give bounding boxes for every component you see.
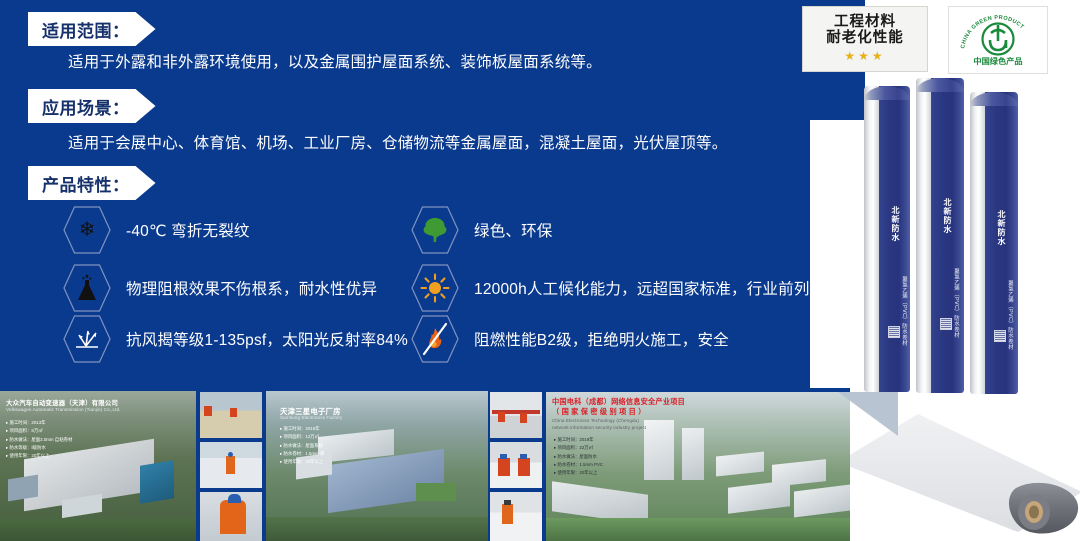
- project-thumb: [200, 492, 262, 541]
- project-title-cn: 大众汽车自动变速器（天津）有限公司: [6, 398, 118, 407]
- reflect-arrows-glyph: [72, 324, 102, 354]
- bullet-item: 使用年限：20年以上: [554, 469, 603, 477]
- project-thumb: [490, 442, 542, 488]
- text-application-scenarios: 适用于会展中心、体育馆、机场、工业厂房、仓储物流等金属屋面，混凝土屋面，光伏屋顶…: [68, 131, 727, 153]
- badge-bottom-text: 中国绿色产品: [973, 56, 1022, 66]
- wind-reflect-icon: [62, 314, 112, 364]
- bullet-item: 施工时间：2016年: [280, 425, 324, 433]
- tag-applicable-scope: 适用范围：: [28, 12, 156, 46]
- feature-label: 绿色、环保: [474, 219, 553, 241]
- roll-brand-label-1: 北新防水: [890, 206, 901, 242]
- bullet-item: 防水卷材：1.5mm 厚: [280, 450, 324, 458]
- tag-application-scenarios: 应用场景：: [28, 89, 156, 123]
- feature-label: 抗风揭等级1-135psf，太阳光反射率84%: [126, 328, 408, 350]
- badge-line-2: 耐老化性能: [826, 31, 904, 46]
- text-applicable-scope: 适用于外露和非外露环境使用，以及金属围护屋面系统、装饰板屋面系统等。: [68, 50, 602, 72]
- snowflake-glyph: ❄: [79, 220, 96, 240]
- roll-qr-icon-3: [994, 330, 1006, 342]
- tag-product-features: 产品特性：: [28, 166, 156, 200]
- snowflake-icon: ❄: [62, 205, 112, 255]
- bullet-item: 防水做法：屋面防水: [554, 453, 603, 461]
- bullet-item: 防水做法：屋面系统: [280, 442, 324, 450]
- project-panel-volkswagen[interactable]: 大众汽车自动变速器（天津）有限公司 Volkswagen Automatic T…: [0, 391, 262, 541]
- bullet-item: 项目面积：8万㎡: [6, 427, 72, 435]
- feature-row-weathering: 12000h人工候化能力，远超国家标准，行业前列: [410, 263, 810, 313]
- project-photo-cetc: 中国电科（成都）网络信息安全产业项目 （ 国 家 保 密 级 别 项 目 ） C…: [546, 392, 850, 541]
- china-green-product-badge: CHINA GREEN PRODUCT 中国绿色产品: [948, 6, 1048, 74]
- engineering-material-aging-badge: 工程材料 耐老化性能 ★★★: [802, 6, 928, 72]
- bullet-item: 施工时间：2013年: [6, 419, 72, 427]
- product-roll-2: 北新防水 聚氯乙烯（PVC）防水卷材: [916, 78, 964, 393]
- roll-spec-label-1: 聚氯乙烯（PVC）防水卷材: [900, 276, 908, 346]
- roll-brand-label-3: 北新防水: [996, 210, 1007, 246]
- project-thumb: [200, 392, 262, 438]
- project-bullets: 施工时间：2019年 项目面积：22万㎡ 防水做法：屋面防水 防水卷材：1.5m…: [554, 436, 603, 478]
- roll-qr-icon-1: [888, 326, 900, 338]
- feature-row-root-resistance: 物理阻根效果不伤根系，耐水性优异: [62, 263, 377, 313]
- sun-glyph: [420, 273, 450, 303]
- roll-qr-icon-2: [940, 318, 952, 330]
- bullet-item: 防水做法：屋面3.0mm 自粘卷材: [6, 436, 72, 444]
- badge-line-1: 工程材料: [834, 15, 896, 30]
- slide-root: 北新防水 聚氯乙烯（PVC）防水卷材 北新防水 聚氯乙烯（PVC）防水卷材 北新…: [0, 0, 1080, 541]
- tag-label: 产品特性：: [42, 171, 130, 196]
- project-title-en: Volkswagen Automatic Transmission (Tianj…: [6, 407, 121, 412]
- unrolled-membrane: [838, 414, 1080, 541]
- bullet-item: 使用年限：20年以上: [280, 458, 324, 466]
- project-title-cn-2: （ 国 家 保 密 级 别 项 目 ）: [552, 407, 646, 417]
- roll-spec-label-3: 聚氯乙烯（PVC）防水卷材: [1006, 280, 1014, 350]
- product-roll-3: 北新防水 聚氯乙烯（PVC）防水卷材: [970, 92, 1018, 394]
- feature-row-wind-reflect: 抗风揭等级1-135psf，太阳光反射率84%: [62, 314, 408, 364]
- project-title-en: Samsung Electronics Factory: [280, 415, 342, 420]
- badge-stars: ★★★: [844, 49, 885, 63]
- feature-label: 12000h人工候化能力，远超国家标准，行业前列: [474, 277, 810, 299]
- tag-label: 应用场景：: [42, 94, 130, 119]
- tag-label: 适用范围：: [42, 17, 130, 42]
- flask-root-icon: [62, 263, 112, 313]
- project-bullets: 施工时间：2013年 项目面积：8万㎡ 防水做法：屋面3.0mm 自粘卷材 防水…: [6, 419, 72, 461]
- feature-row-flame-retardant: 阻燃性能B2级，拒绝明火施工，安全: [410, 314, 729, 364]
- project-thumb: [490, 392, 542, 438]
- feature-row-green: 绿色、环保: [410, 205, 553, 255]
- project-thumb: [490, 492, 542, 541]
- feature-label: 阻燃性能B2级，拒绝明火施工，安全: [474, 328, 729, 350]
- bullet-item: 项目面积：22万㎡: [554, 444, 603, 452]
- product-roll-1: 北新防水 聚氯乙烯（PVC）防水卷材: [864, 86, 910, 392]
- bullet-item: 防水卷材：1.5mm PVC: [554, 461, 603, 469]
- project-case-strip: 大众汽车自动变速器（天津）有限公司 Volkswagen Automatic T…: [0, 388, 850, 541]
- project-title-en-2: network information security industry pr…: [552, 425, 646, 430]
- bullet-item: 施工时间：2019年: [554, 436, 603, 444]
- project-photo-samsung: 天津三星电子厂房 Samsung Electronics Factory 施工时…: [266, 391, 488, 541]
- flask-glyph: [75, 274, 99, 302]
- roll-spec-label-2: 聚氯乙烯（PVC）防水卷材: [952, 268, 960, 338]
- bullet-item: 使用年限：20年以上: [6, 452, 72, 460]
- no-fire-icon: [410, 314, 460, 364]
- bullet-item: 防水等级：Ⅰ级防水: [6, 444, 72, 452]
- project-panel-cetc[interactable]: 中国电科（成都）网络信息安全产业项目 （ 国 家 保 密 级 别 项 目 ） C…: [490, 391, 850, 541]
- sun-icon: [410, 263, 460, 313]
- roll-brand-label-2: 北新防水: [942, 198, 953, 234]
- project-bullets: 施工时间：2016年 项目面积：12万㎡ 防水做法：屋面系统 防水卷材：1.5m…: [280, 425, 324, 467]
- tree-icon: [410, 205, 460, 255]
- project-photo-volkswagen: 大众汽车自动变速器（天津）有限公司 Volkswagen Automatic T…: [0, 391, 196, 541]
- feature-label: -40℃ 弯折无裂纹: [126, 219, 250, 241]
- feature-row-cold-bend: ❄ -40℃ 弯折无裂纹: [62, 205, 250, 255]
- bullet-item: 项目面积：12万㎡: [280, 433, 324, 441]
- project-title-en: China Electronics Technology (Chengdu): [552, 418, 639, 423]
- tree-glyph: [421, 216, 449, 244]
- project-title-cn: 中国电科（成都）网络信息安全产业项目: [552, 397, 685, 407]
- no-fire-glyph: [418, 322, 452, 356]
- project-thumb: [200, 442, 262, 488]
- feature-label: 物理阻根效果不伤根系，耐水性优异: [126, 277, 377, 299]
- project-panel-samsung[interactable]: 天津三星电子厂房 Samsung Electronics Factory 施工时…: [266, 391, 488, 541]
